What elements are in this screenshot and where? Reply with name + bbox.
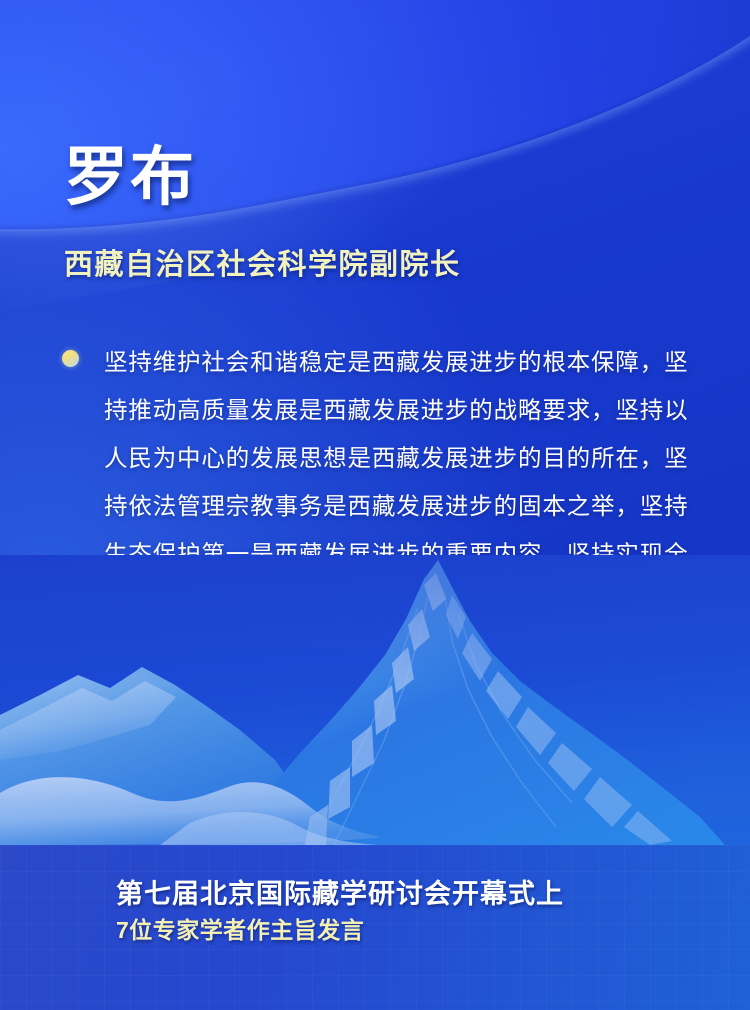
footer-text-block: 第七届北京国际藏学研讨会开幕式上 7位专家学者作主旨发言 bbox=[116, 879, 564, 944]
speaker-role: 西藏自治区社会科学院副院长 bbox=[64, 248, 461, 283]
snow-mountain-illustration bbox=[0, 555, 750, 845]
speaker-name: 罗布 bbox=[64, 144, 196, 211]
mountain-svg bbox=[0, 555, 750, 845]
event-subtitle: 7位专家学者作主旨发言 bbox=[116, 917, 564, 945]
footer-banner: 第七届北京国际藏学研讨会开幕式上 7位专家学者作主旨发言 bbox=[0, 845, 750, 1010]
circle-bullet-icon bbox=[62, 350, 79, 367]
event-title: 第七届北京国际藏学研讨会开幕式上 bbox=[116, 879, 564, 911]
poster-canvas: 罗布 西藏自治区社会科学院副院长 坚持维护社会和谐稳定是西藏发展进步的根本保障，… bbox=[0, 0, 750, 1010]
